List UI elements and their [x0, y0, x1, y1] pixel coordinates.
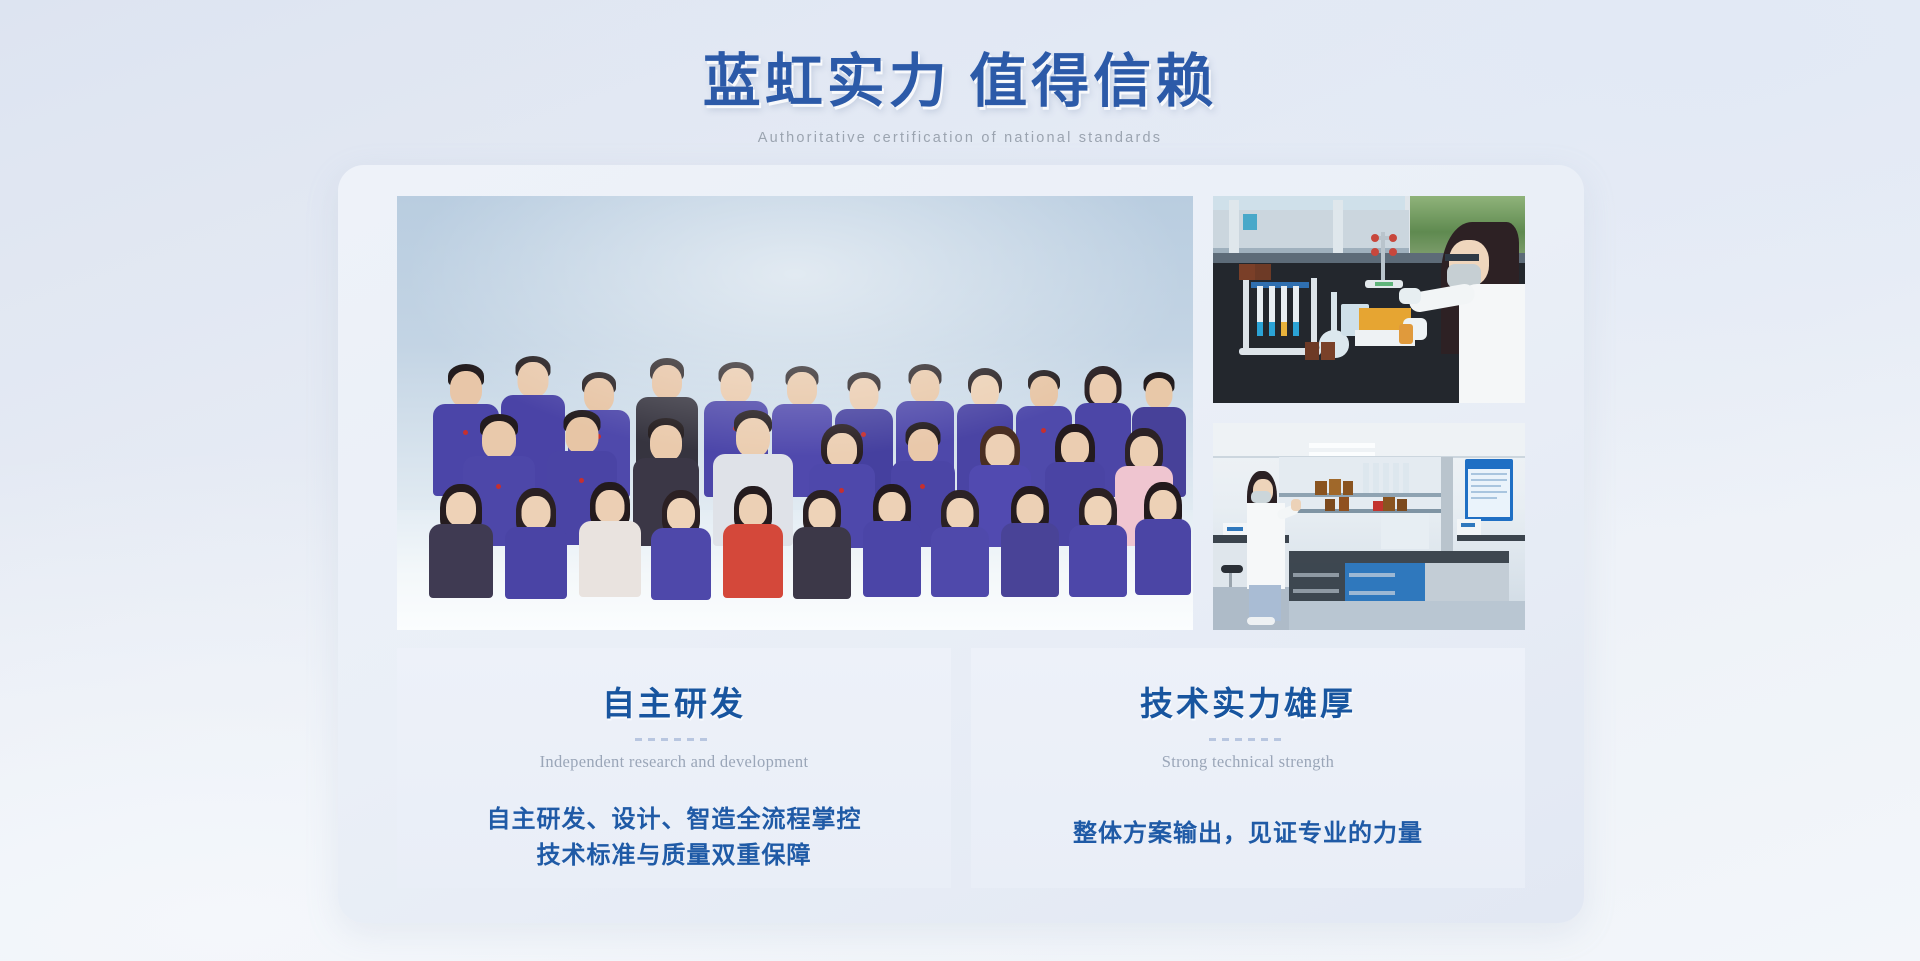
card-description: 整体方案输出，见证专业的力量 [971, 816, 1525, 852]
page-root: 蓝虹实力 值得信赖 Authoritative certification of… [0, 0, 1920, 961]
photo-vignette [397, 196, 1193, 630]
page-header: 蓝虹实力 值得信赖 Authoritative certification of… [0, 0, 1920, 146]
content-panel: 自主研发 Independent research and developmen… [338, 165, 1584, 923]
card-description-line: 技术标准与质量双重保障 [537, 843, 812, 869]
card-description-line: 整体方案输出，见证专业的力量 [1073, 821, 1423, 847]
page-subtitle: Authoritative certification of national … [0, 130, 1920, 146]
card-divider-dashes [635, 738, 713, 741]
photo-gallery [397, 196, 1525, 630]
card-english-subtitle: Strong technical strength [971, 752, 1525, 772]
card-description: 自主研发、设计、智造全流程掌控 技术标准与质量双重保障 [397, 802, 951, 875]
lab-technician-pipetting-photo [1213, 196, 1525, 403]
card-title: 技术实力雄厚 [971, 648, 1525, 725]
page-title: 蓝虹实力 值得信赖 [0, 0, 1920, 118]
card-english-subtitle: Independent research and development [397, 752, 951, 772]
card-title: 自主研发 [397, 648, 951, 725]
card-divider-dashes [1209, 738, 1287, 741]
laboratory-room-photo [1213, 423, 1525, 630]
feature-cards: 自主研发 Independent research and developmen… [397, 648, 1525, 888]
card-description-line: 自主研发、设计、智造全流程掌控 [487, 807, 862, 833]
feature-card-independent-rnd[interactable]: 自主研发 Independent research and developmen… [397, 648, 951, 888]
company-team-group-photo [397, 196, 1193, 630]
feature-card-technical-strength[interactable]: 技术实力雄厚 Strong technical strength 整体方案输出，… [971, 648, 1525, 888]
